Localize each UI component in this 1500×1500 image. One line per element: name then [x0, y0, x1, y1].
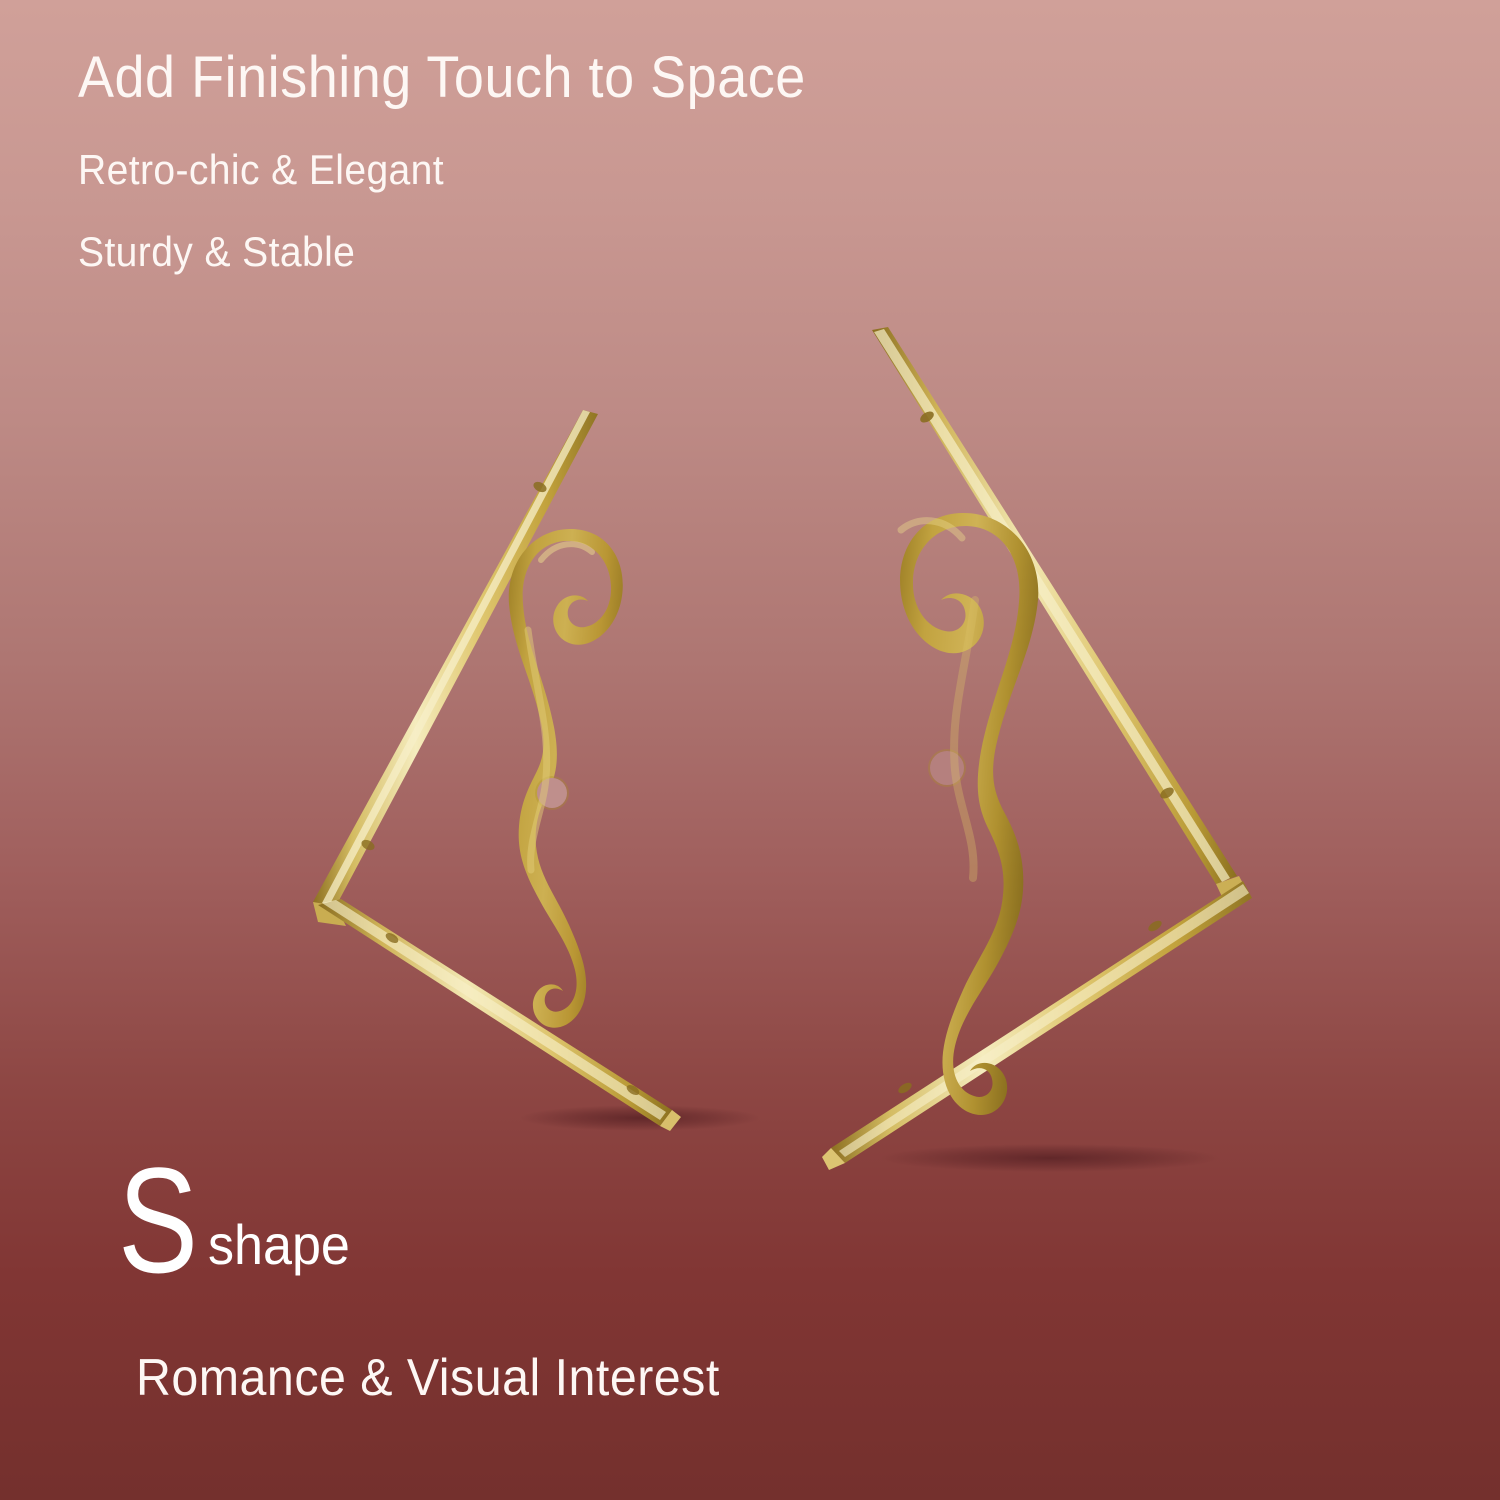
bracket-left-frame [313, 410, 681, 1131]
subheadline-retro-chic: Retro-chic & Elegant [78, 146, 444, 194]
product-marketing-image: Add Finishing Touch to Space Retro-chic … [0, 0, 1500, 1500]
bracket-left-scroll [509, 529, 623, 1028]
bracket-right-frame [822, 327, 1252, 1170]
subheadline-sturdy-stable: Sturdy & Stable [78, 228, 355, 276]
tagline-romance-visual-interest: Romance & Visual Interest [136, 1348, 720, 1408]
page-headline: Add Finishing Touch to Space [78, 48, 806, 109]
shape-word-label: shape [208, 1212, 350, 1277]
bracket-right [822, 327, 1252, 1170]
bracket-left [313, 410, 681, 1131]
product-shadows [520, 1105, 1220, 1172]
shape-callout: S shape [118, 1162, 361, 1285]
shape-letter-s: S [118, 1162, 198, 1279]
bracket-right-scroll [900, 513, 1038, 1115]
